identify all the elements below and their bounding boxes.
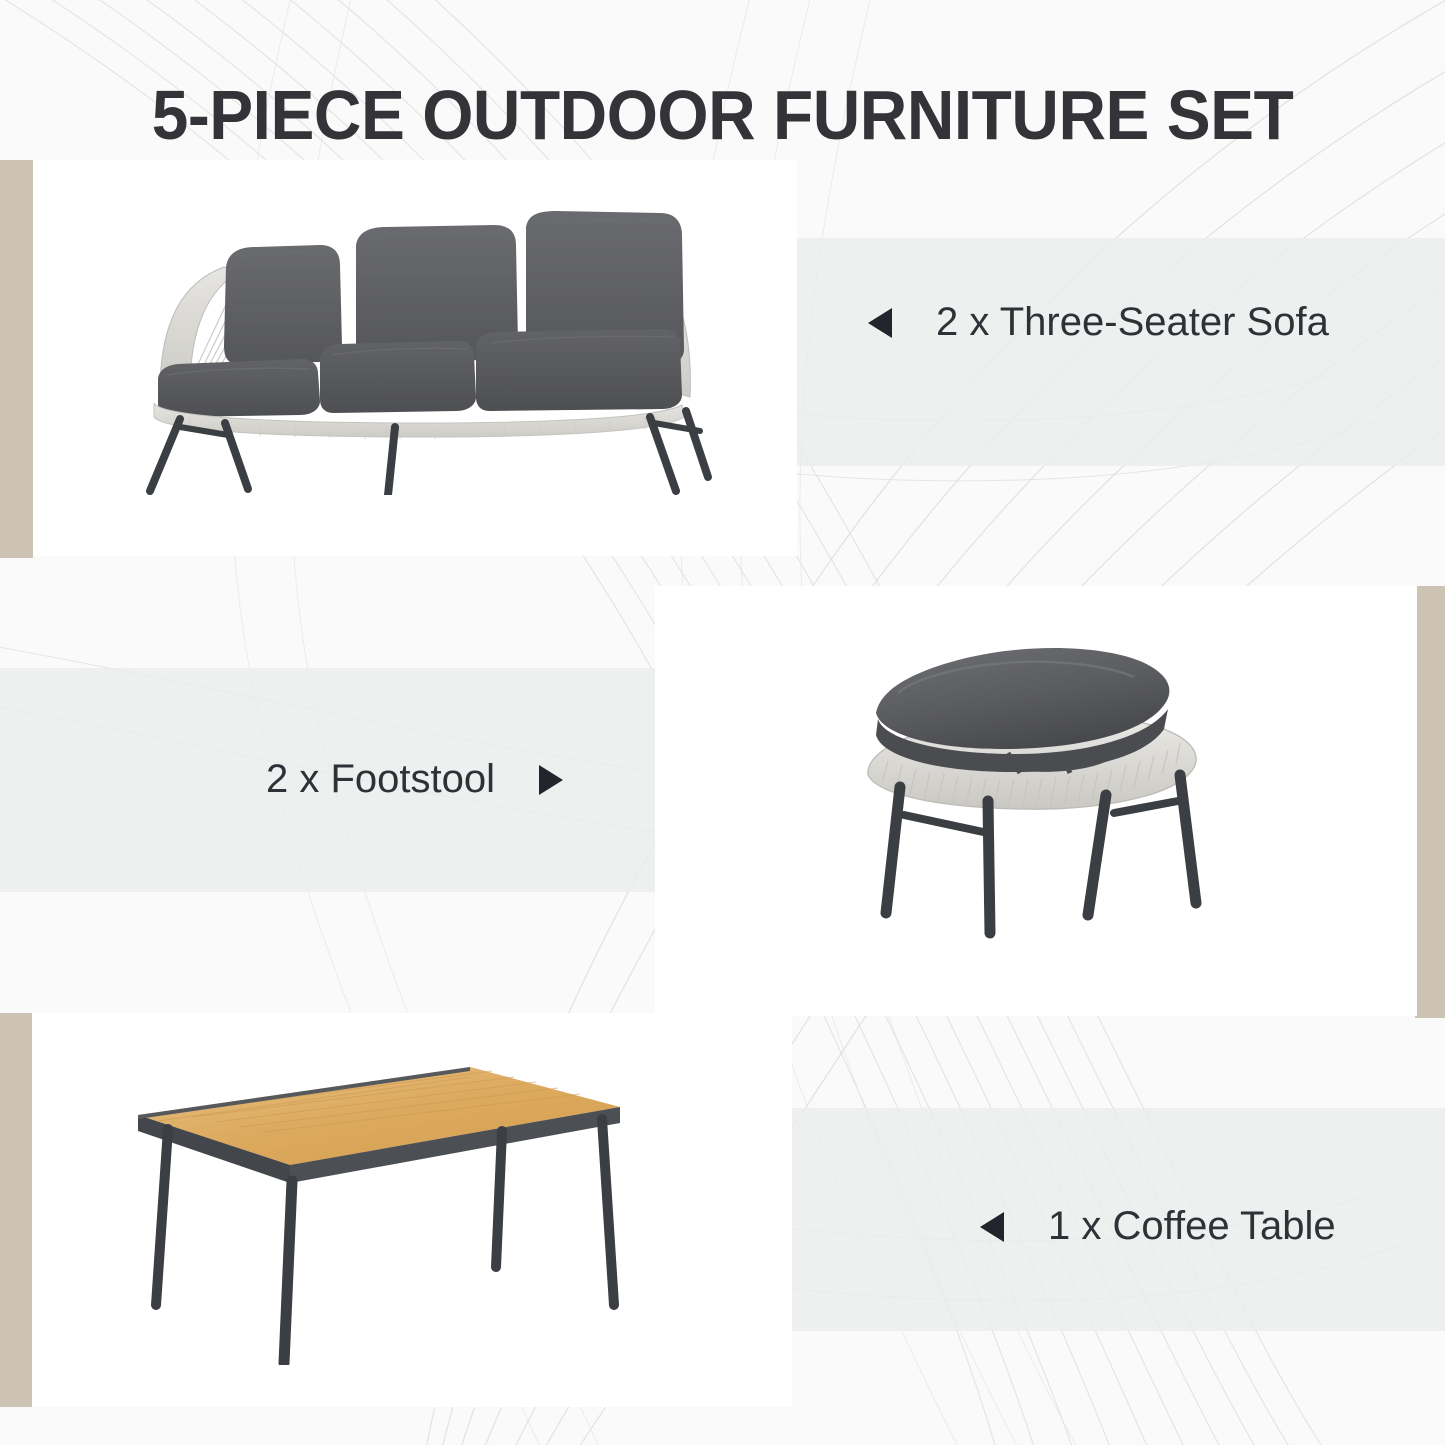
callout-label-sofa: 2 x Three-Seater Sofa bbox=[936, 300, 1329, 345]
accent-strip-left-top bbox=[0, 160, 33, 558]
callout-label-footstool: 2 x Footstool bbox=[266, 757, 495, 802]
triangle-left-icon bbox=[868, 308, 892, 338]
triangle-right-icon bbox=[539, 765, 563, 795]
accent-strip-right-middle bbox=[1415, 586, 1445, 1018]
callout-coffee-table: 1 x Coffee Table bbox=[980, 1204, 1336, 1249]
callout-three-seater-sofa: 2 x Three-Seater Sofa bbox=[868, 300, 1329, 345]
accent-strip-left-bottom bbox=[0, 1013, 32, 1407]
callout-label-coffee-table: 1 x Coffee Table bbox=[1048, 1204, 1336, 1249]
product-image-footstool bbox=[838, 615, 1238, 945]
callout-footstool: 2 x Footstool bbox=[266, 757, 563, 802]
product-image-three-seater-sofa bbox=[120, 205, 720, 495]
page-title: 5-PIECE OUTDOOR FURNITURE SET bbox=[43, 79, 1401, 153]
product-image-coffee-table bbox=[120, 1055, 640, 1365]
triangle-left-icon bbox=[980, 1212, 1004, 1242]
infographic-canvas: 5-PIECE OUTDOOR FURNITURE SET bbox=[0, 0, 1445, 1445]
